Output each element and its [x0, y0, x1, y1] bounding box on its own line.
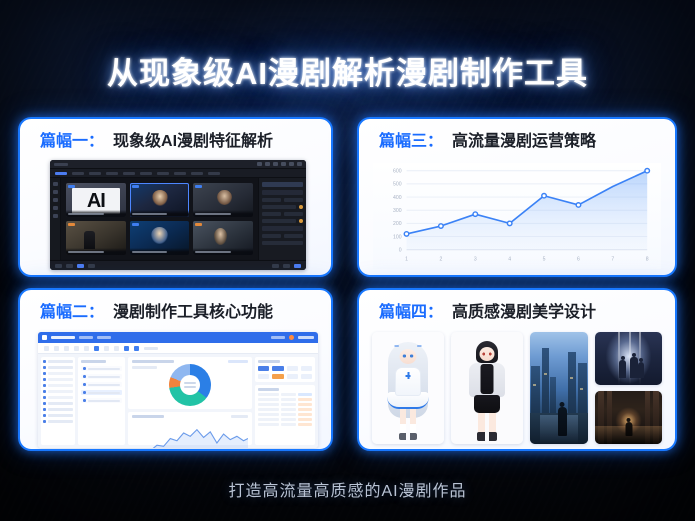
svg-text:1: 1	[405, 256, 408, 262]
card-four-index: 篇幅四：	[379, 298, 443, 322]
quick-action-7[interactable]	[287, 374, 298, 379]
editor-tabbar[interactable]	[50, 169, 306, 178]
sidebar-item-1[interactable]	[43, 360, 73, 363]
search-icon[interactable]	[257, 162, 262, 166]
toolbar-label	[144, 347, 158, 350]
table-row	[258, 418, 312, 421]
character-inner-top	[481, 364, 494, 393]
topnav-item-1[interactable]	[79, 336, 93, 339]
export-button[interactable]	[294, 264, 301, 268]
quick-action-3[interactable]	[287, 366, 298, 371]
slide-stage: 从现象级AI漫剧解析漫剧制作工具 篇幅一： 现象级AI漫剧特征解析	[0, 0, 695, 521]
thumbnail-man-grey-coat[interactable]	[193, 183, 253, 217]
svg-text:5: 5	[543, 256, 546, 262]
quick-action-6[interactable]	[272, 374, 283, 379]
rail-icon-export[interactable]	[53, 214, 58, 218]
property-row-5[interactable]	[262, 234, 303, 238]
svg-text:0: 0	[399, 248, 402, 254]
avatar[interactable]	[289, 335, 294, 340]
property-row-6[interactable]	[262, 241, 303, 245]
app-logo-icon	[42, 335, 47, 340]
topnav-item-2[interactable]	[97, 336, 111, 339]
toolbar-icon-refresh[interactable]	[114, 346, 119, 351]
properties-divider	[262, 226, 303, 231]
scene-backlit-silhouettes[interactable]	[595, 332, 662, 385]
list-item[interactable]	[81, 382, 122, 387]
list-panel-title	[81, 360, 106, 363]
dashboard-list-panel[interactable]	[78, 357, 125, 445]
chart-point-1	[404, 232, 409, 236]
card-three-body: 0100200300400500600 12345678	[359, 159, 675, 275]
character-black-ponytail-jacket[interactable]	[451, 332, 523, 444]
user-name	[298, 336, 314, 339]
editor-tab-3[interactable]	[89, 172, 101, 175]
donut-chart-card	[128, 357, 252, 409]
app-brand-name	[51, 336, 75, 339]
records-table-card	[255, 385, 315, 445]
card-section-two[interactable]: 篇幅二： 漫剧制作工具核心功能	[18, 288, 333, 451]
character-dress	[395, 367, 421, 396]
donut-card-subtitle	[132, 366, 157, 369]
properties-preview	[262, 190, 303, 195]
svg-text:4: 4	[508, 256, 511, 262]
svg-text:300: 300	[393, 208, 402, 214]
editor-tab-8[interactable]	[174, 172, 186, 175]
card-two-body	[20, 330, 331, 449]
quick-action-8[interactable]	[301, 374, 312, 379]
scene-figure	[625, 422, 632, 436]
thumbnail-man-stairs[interactable]	[66, 221, 126, 255]
editor-properties-panel	[258, 178, 306, 260]
editor-tab-2[interactable]	[72, 172, 84, 175]
thumbnail-grid	[61, 178, 258, 260]
thumbnail-ai-title-card[interactable]	[66, 183, 126, 217]
sidebar-item-5[interactable]	[43, 384, 73, 387]
editor-app-name	[54, 163, 68, 166]
card-two-index: 篇幅二：	[40, 298, 104, 322]
property-row-2[interactable]	[262, 205, 303, 209]
dashboard-main-column	[128, 357, 252, 445]
character-eyes	[482, 352, 493, 356]
card-one-title: 现象级AI漫剧特征解析	[113, 127, 273, 151]
status-icon-6[interactable]	[283, 264, 290, 268]
video-editor-screenshot	[50, 160, 306, 270]
chart-point-2	[439, 224, 444, 228]
toolbar-icon-copy[interactable]	[74, 346, 79, 351]
status-icon-2[interactable]	[66, 264, 73, 268]
sidebar-item-11[interactable]	[43, 420, 73, 423]
card-three-header: 篇幅三： 高流量漫剧运营策略	[359, 119, 675, 159]
sidebar-item-6[interactable]	[43, 390, 73, 393]
card-section-one[interactable]: 篇幅一： 现象级AI漫剧特征解析	[18, 117, 333, 277]
card-one-header: 篇幅一： 现象级AI漫剧特征解析	[20, 119, 331, 159]
quick-actions-grid[interactable]	[258, 366, 312, 379]
editor-tab-6[interactable]	[140, 172, 152, 175]
editor-statusbar	[50, 260, 306, 270]
minimize-icon[interactable]	[281, 162, 286, 166]
table-row	[258, 398, 312, 401]
quick-action-2[interactable]	[272, 366, 283, 371]
character-hair-bows	[393, 343, 423, 349]
card-three-index: 篇幅三：	[379, 127, 443, 151]
topnav-help[interactable]	[271, 336, 285, 339]
card-four-header: 篇幅四： 高质感漫剧美学设计	[359, 290, 675, 330]
property-row-3[interactable]	[262, 212, 303, 216]
donut-card-title	[132, 360, 174, 363]
rail-icon-media[interactable]	[53, 182, 58, 186]
art-gallery	[372, 332, 662, 444]
svg-text:6: 6	[577, 256, 580, 262]
thumbnail-anime-girl-blue[interactable]	[130, 183, 190, 217]
properties-tab-row[interactable]	[262, 182, 303, 187]
card-one-index: 篇幅一：	[40, 127, 104, 151]
svg-text:500: 500	[393, 182, 402, 188]
table-row	[258, 403, 312, 406]
footer-tagline: 打造高流量高质感的AI漫剧作品	[0, 477, 695, 501]
thumbnail-man-suit-car[interactable]	[193, 221, 253, 255]
chart-point-8	[645, 168, 650, 172]
quick-action-5[interactable]	[258, 374, 269, 379]
sidebar-item-7[interactable]	[43, 396, 73, 399]
toolbar-icon-filter[interactable]	[104, 346, 109, 351]
toolbar-icon-save[interactable]	[64, 346, 69, 351]
page-title: 从现象级AI漫剧解析漫剧制作工具	[0, 48, 695, 93]
trend-chart-card	[128, 412, 252, 445]
card-one-body	[20, 159, 331, 275]
card-section-three[interactable]: 篇幅三： 高流量漫剧运营策略 0100200300400500600 12345…	[357, 117, 677, 277]
chart-point-5	[542, 194, 547, 198]
editor-tab-10[interactable]	[208, 172, 220, 175]
editor-main	[50, 178, 306, 260]
editor-tab-7[interactable]	[157, 172, 169, 175]
dashboard-topbar	[38, 332, 318, 343]
admin-dashboard-screenshot	[38, 332, 318, 448]
editor-tab-5[interactable]	[123, 172, 135, 175]
dashboard-body	[38, 354, 318, 448]
svg-text:2: 2	[439, 256, 442, 262]
character-cross-emblem	[406, 372, 411, 379]
status-icon-3[interactable]	[77, 264, 84, 268]
close-icon[interactable]	[297, 162, 302, 166]
trend-card-action[interactable]	[231, 415, 248, 418]
rail-icon-audio[interactable]	[53, 190, 58, 194]
scene-figure	[558, 407, 567, 436]
list-item[interactable]	[81, 398, 122, 403]
character-socks	[400, 424, 416, 433]
maximize-icon[interactable]	[289, 162, 294, 166]
growth-chart-svg: 0100200300400500600 12345678	[373, 163, 661, 269]
toolbar-icon-user[interactable]	[94, 346, 99, 351]
svg-text:3: 3	[474, 256, 477, 262]
card-two-title: 漫剧制作工具核心功能	[113, 298, 273, 322]
toolbar-icon-chart[interactable]	[124, 346, 129, 351]
toolbar-icon-delete[interactable]	[84, 346, 89, 351]
donut-card-action[interactable]	[228, 360, 248, 363]
svg-text:7: 7	[611, 256, 614, 262]
character-eyes	[402, 354, 415, 358]
donut-center-label	[169, 364, 211, 406]
status-icon-1[interactable]	[55, 264, 62, 268]
scene-warm-corridor[interactable]	[595, 391, 662, 444]
svg-text:600: 600	[393, 169, 402, 175]
table-row	[258, 393, 312, 396]
quick-action-4[interactable]	[301, 366, 312, 371]
rail-icon-effects[interactable]	[53, 206, 58, 210]
quick-actions-card	[255, 357, 315, 382]
sidebar-item-9[interactable]	[43, 408, 73, 411]
svg-text:400: 400	[393, 195, 402, 201]
status-dot-icon	[299, 205, 303, 209]
sidebar-item-10[interactable]	[43, 414, 73, 417]
dashboard-sidebar[interactable]	[41, 357, 75, 445]
character-shoes	[399, 433, 417, 440]
list-item[interactable]	[81, 366, 122, 371]
svg-text:8: 8	[646, 256, 649, 262]
rail-icon-text[interactable]	[53, 198, 58, 202]
quick-actions-title	[258, 360, 280, 363]
list-item[interactable]	[81, 374, 122, 379]
card-three-title: 高流量漫剧运营策略	[452, 127, 596, 151]
chart-point-4	[507, 221, 512, 225]
list-view-icon[interactable]	[273, 162, 278, 166]
table-row	[258, 423, 312, 426]
sidebar-item-2[interactable]	[43, 366, 73, 369]
sidebar-item-8[interactable]	[43, 402, 73, 405]
property-row-4[interactable]	[262, 219, 303, 223]
editor-left-rail[interactable]	[50, 178, 61, 260]
status-icon-4[interactable]	[88, 264, 95, 268]
growth-chart: 0100200300400500600 12345678	[373, 163, 661, 269]
card-four-title: 高质感漫剧美学设计	[452, 298, 596, 322]
character-boots	[477, 432, 497, 441]
list-item-selected[interactable]	[81, 390, 122, 395]
table-row	[258, 413, 312, 416]
status-dot-icon	[299, 219, 303, 223]
character-white-blue-dress[interactable]	[372, 332, 444, 444]
card-two-header: 篇幅二： 漫剧制作工具核心功能	[20, 290, 331, 330]
dashboard-toolbar[interactable]	[38, 343, 318, 354]
svg-text:200: 200	[393, 221, 402, 227]
chart-point-6	[576, 203, 581, 207]
chart-y-axis-labels: 0100200300400500600	[393, 169, 402, 254]
scene-blue-city-street[interactable]	[530, 332, 588, 444]
trend-mini-chart	[137, 423, 248, 448]
property-row-1[interactable]	[262, 198, 303, 202]
donut-chart	[169, 364, 211, 406]
sidebar-item-3[interactable]	[43, 372, 73, 375]
editor-tab-1[interactable]	[55, 172, 67, 175]
table-row	[258, 408, 312, 411]
chart-point-3	[473, 212, 478, 216]
toolbar-icon-open[interactable]	[54, 346, 59, 351]
thumbnail-anime-girl-neon[interactable]	[130, 221, 190, 255]
toolbar-icon-settings[interactable]	[134, 346, 139, 351]
chart-x-axis-labels: 12345678	[405, 256, 649, 262]
card-section-four[interactable]: 篇幅四： 高质感漫剧美学设计	[357, 288, 677, 451]
character-shorts	[474, 395, 500, 413]
dashboard-side-column	[255, 357, 315, 445]
quick-action-1[interactable]	[258, 366, 269, 371]
scene-stack	[595, 332, 662, 444]
records-table-title	[258, 388, 279, 391]
toolbar-icon-new[interactable]	[44, 346, 49, 351]
sidebar-item-4[interactable]	[43, 378, 73, 381]
card-four-body	[359, 330, 675, 449]
trend-card-title	[132, 415, 164, 418]
status-icon-5[interactable]	[272, 264, 279, 268]
editor-titlebar	[50, 160, 306, 169]
editor-tab-4[interactable]	[106, 172, 118, 175]
grid-view-icon[interactable]	[265, 162, 270, 166]
editor-tab-9[interactable]	[191, 172, 203, 175]
svg-text:100: 100	[393, 234, 402, 240]
